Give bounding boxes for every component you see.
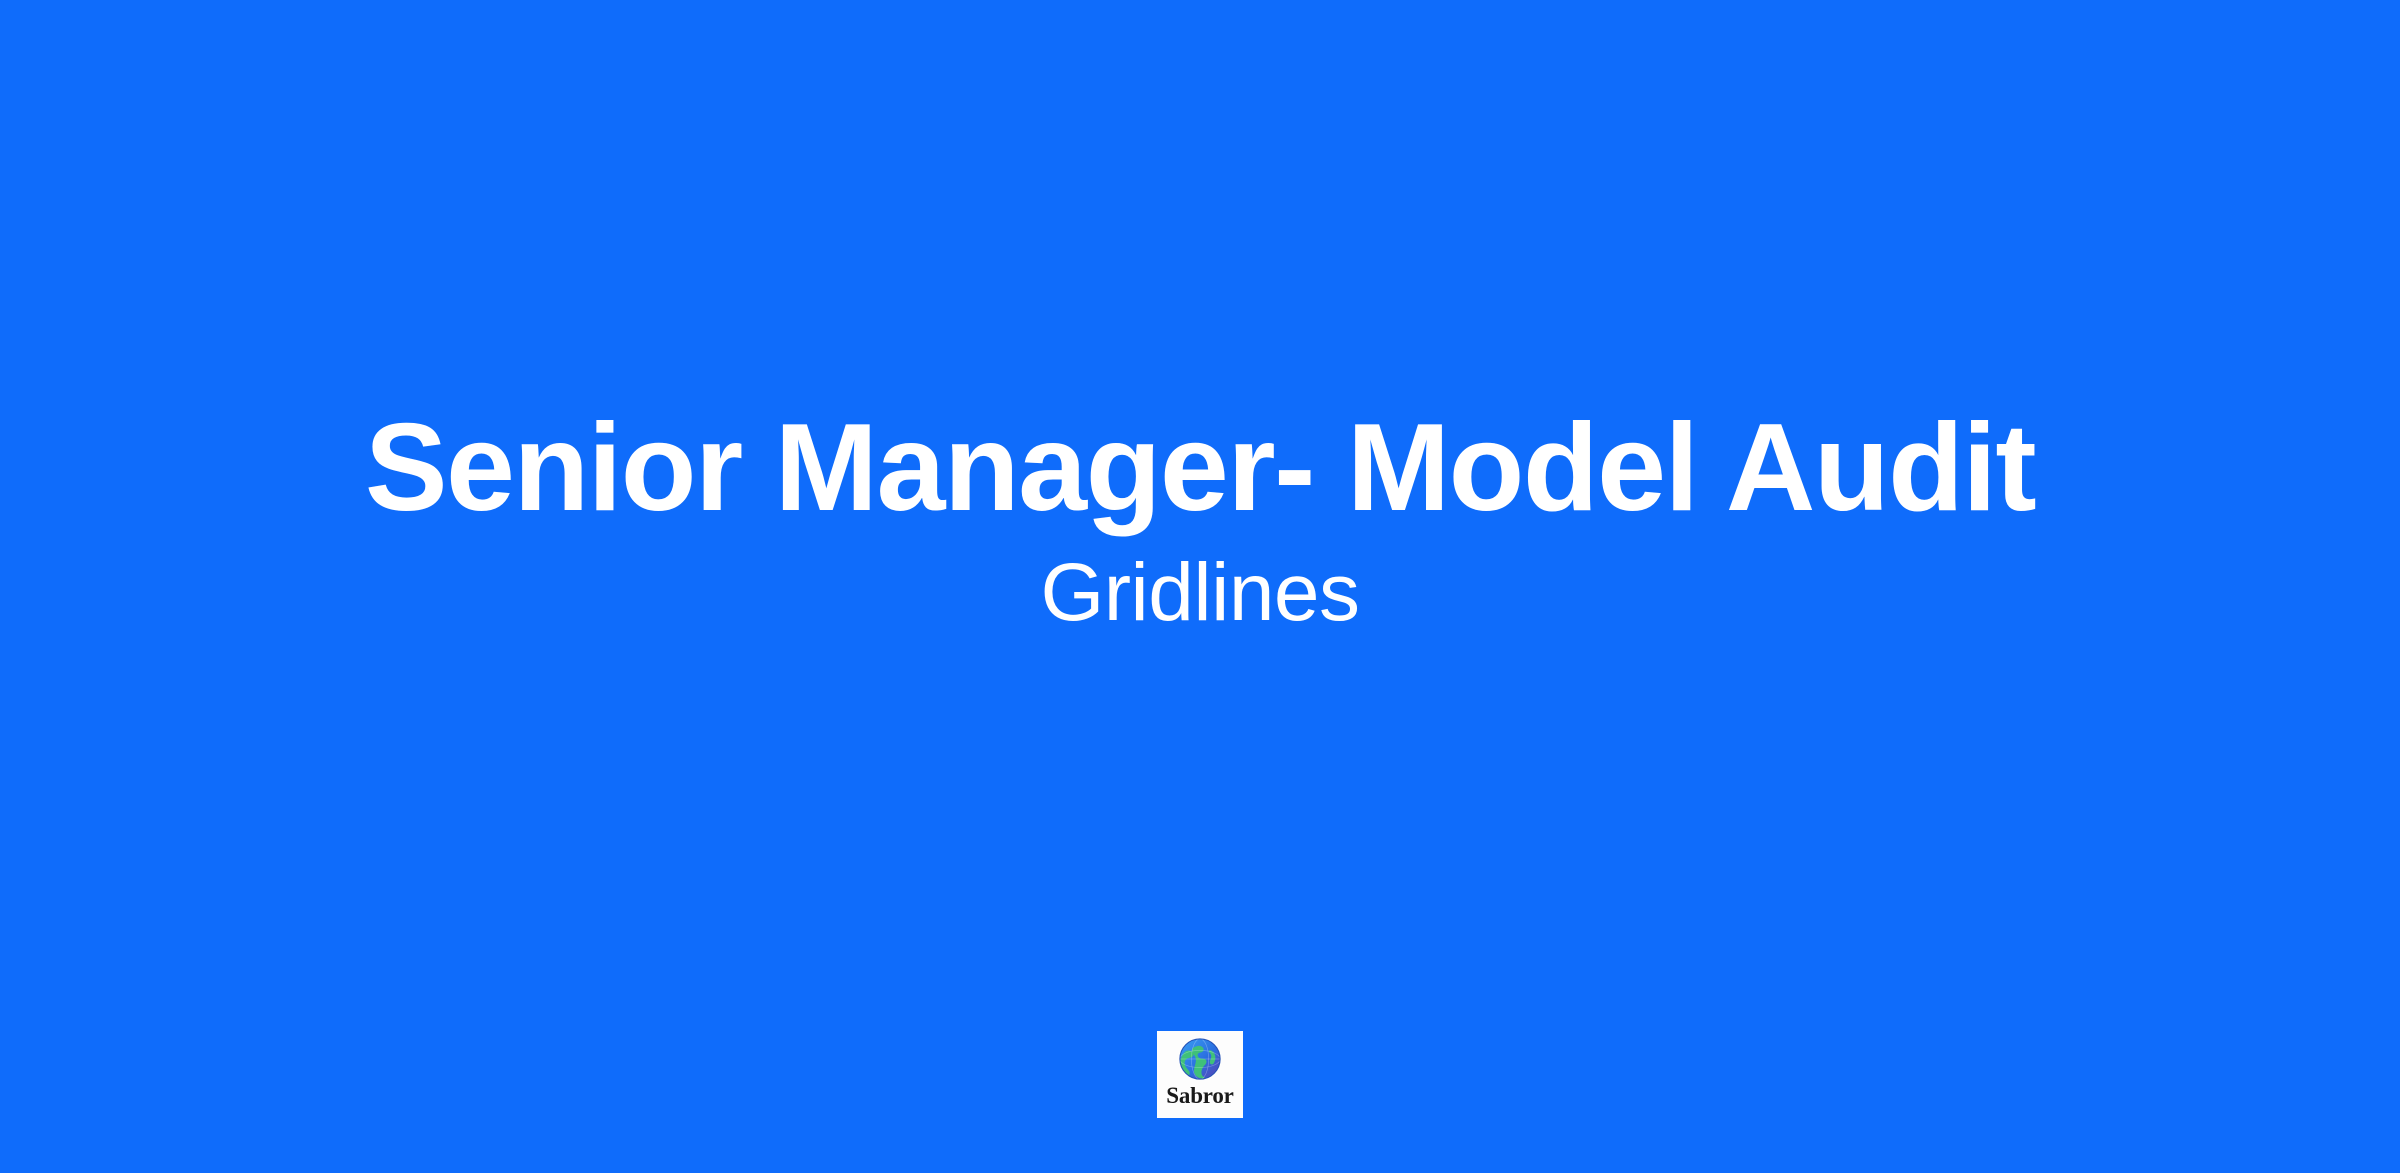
brand-name: Sabror: [1166, 1084, 1233, 1107]
hero-text-block: Senior Manager- Model Audit Gridlines: [0, 398, 2400, 639]
page-title: Senior Manager- Model Audit: [365, 398, 2035, 539]
page-subtitle: Gridlines: [1040, 547, 1359, 639]
globe-icon: [1177, 1036, 1223, 1082]
title-slide: Senior Manager- Model Audit Gridlines: [0, 0, 2400, 1173]
brand-logo: Sabror: [1157, 1031, 1243, 1118]
